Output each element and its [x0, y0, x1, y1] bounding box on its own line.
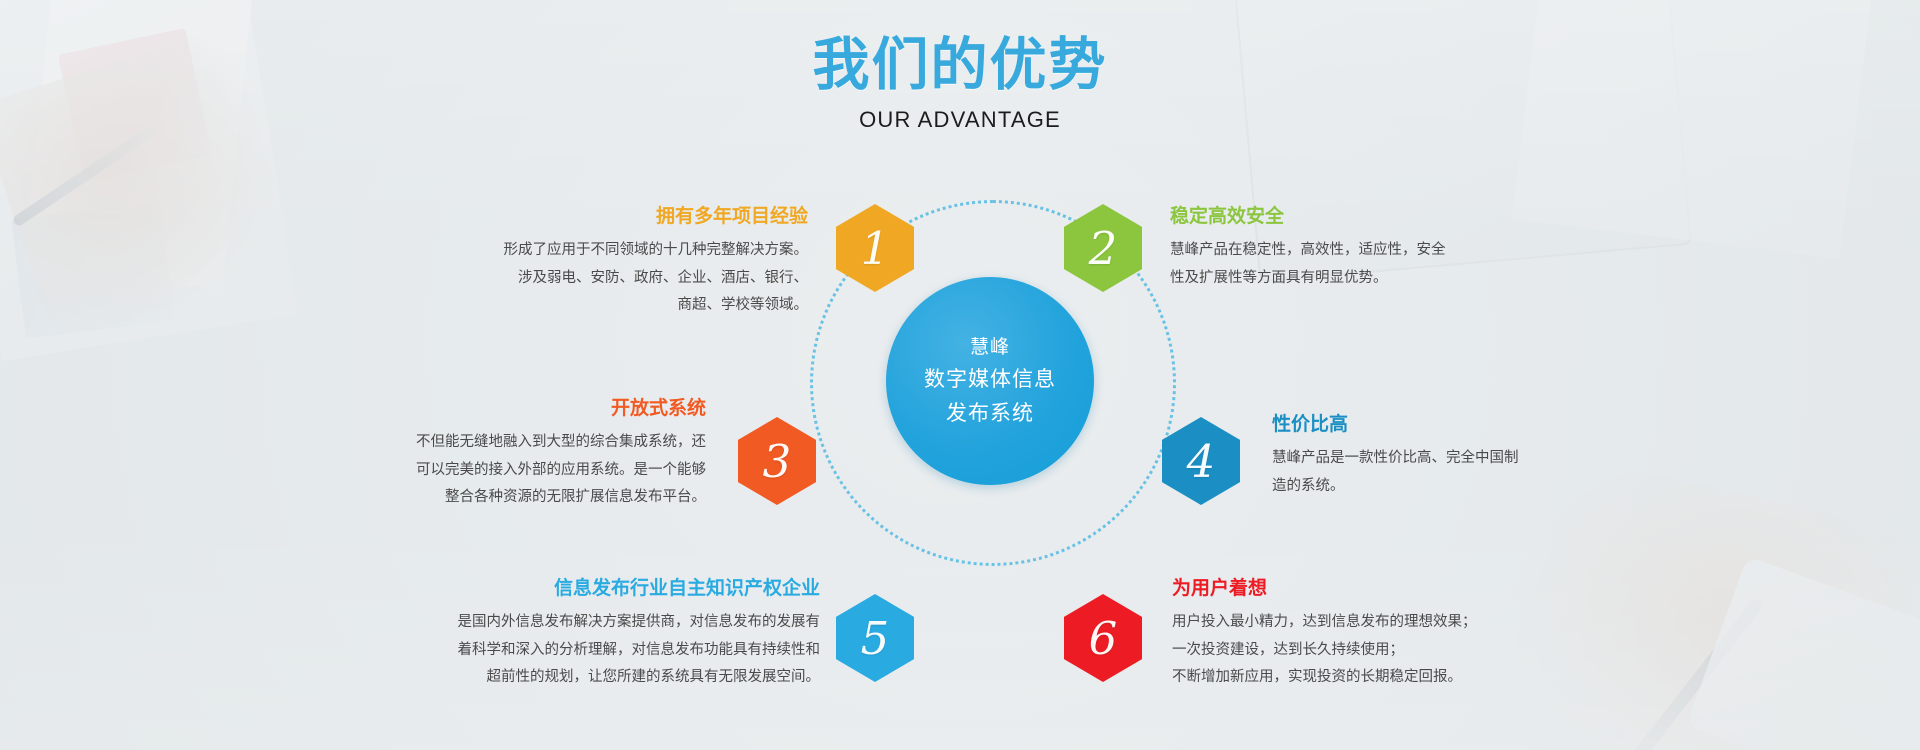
advantage-body-1-line-3: 商超、学校等领域。: [504, 292, 809, 320]
advantage-body-3-line-1: 不但能无缝地融入到大型的综合集成系统，还: [416, 429, 706, 457]
advantage-body-5: 是国内外信息发布解决方案提供商，对信息发布的发展有着科学和深入的分析理解，对信息…: [458, 609, 821, 692]
center-circle: 慧峰 数字媒体信息 发布系统: [886, 277, 1094, 485]
center-line-1: 慧峰: [970, 332, 1010, 363]
advantage-body-5-line-3: 超前性的规划，让您所建的系统具有无限发展空间。: [458, 664, 821, 692]
advantage-body-2-line-1: 慧峰产品在稳定性，高效性，适应性，安全: [1170, 237, 1446, 265]
advantage-body-4-line-2: 造的系统。: [1272, 473, 1519, 501]
advantage-title-5: 信息发布行业自主知识产权企业: [458, 577, 821, 600]
advantage-title-4: 性价比高: [1272, 413, 1519, 436]
advantage-body-6: 用户投入最小精力，达到信息发布的理想效果；一次投资建设，达到长久持续使用；不断增…: [1172, 609, 1477, 692]
advantage-title-6: 为用户着想: [1172, 577, 1477, 600]
advantage-body-1: 形成了应用于不同领域的十几种完整解决方案。涉及弱电、安防、政府、企业、酒店、银行…: [504, 237, 809, 320]
hexagon-number-2: 2: [1089, 226, 1118, 271]
page-title-cn: 我们的优势: [0, 36, 1920, 96]
page-header: 我们的优势 OUR ADVANTAGE: [0, 36, 1920, 133]
advantage-item-6[interactable]: 为用户着想 用户投入最小精力，达到信息发布的理想效果；一次投资建设，达到长久持续…: [1172, 577, 1477, 692]
advantage-item-3[interactable]: 开放式系统 不但能无缝地融入到大型的综合集成系统，还可以完美的接入外部的应用系统…: [416, 397, 706, 512]
advantage-body-6-line-3: 不断增加新应用，实现投资的长期稳定回报。: [1172, 664, 1477, 692]
hexagon-badge-4[interactable]: 4: [1162, 417, 1240, 505]
hexagon-badge-6[interactable]: 6: [1064, 594, 1142, 682]
hexagon-number-5: 5: [861, 616, 890, 661]
advantage-body-3-line-2: 可以完美的接入外部的应用系统。是一个能够: [416, 457, 706, 485]
advantage-title-1: 拥有多年项目经验: [504, 205, 809, 228]
center-line-2: 数字媒体信息: [924, 362, 1056, 396]
advantage-body-1-line-2: 涉及弱电、安防、政府、企业、酒店、银行、: [504, 265, 809, 293]
hexagon-number-1: 1: [861, 226, 890, 271]
advantage-title-3: 开放式系统: [416, 397, 706, 420]
page-title-en: OUR ADVANTAGE: [0, 107, 1920, 133]
advantage-body-4-line-1: 慧峰产品是一款性价比高、完全中国制: [1272, 445, 1519, 473]
hexagon-badge-3[interactable]: 3: [738, 417, 816, 505]
hexagon-number-6: 6: [1089, 616, 1118, 661]
advantage-body-5-line-1: 是国内外信息发布解决方案提供商，对信息发布的发展有: [458, 609, 821, 637]
advantage-title-2: 稳定高效安全: [1170, 205, 1446, 228]
hexagon-badge-5[interactable]: 5: [836, 594, 914, 682]
advantage-body-1-line-1: 形成了应用于不同领域的十几种完整解决方案。: [504, 237, 809, 265]
advantage-body-3-line-3: 整合各种资源的无限扩展信息发布平台。: [416, 484, 706, 512]
advantage-item-5[interactable]: 信息发布行业自主知识产权企业 是国内外信息发布解决方案提供商，对信息发布的发展有…: [458, 577, 821, 692]
advantage-body-6-line-1: 用户投入最小精力，达到信息发布的理想效果；: [1172, 609, 1477, 637]
hexagon-number-3: 3: [763, 439, 792, 484]
center-line-3: 发布系统: [946, 396, 1034, 430]
advantage-body-2: 慧峰产品在稳定性，高效性，适应性，安全性及扩展性等方面具有明显优势。: [1170, 237, 1446, 293]
advantage-body-3: 不但能无缝地融入到大型的综合集成系统，还可以完美的接入外部的应用系统。是一个能够…: [416, 429, 706, 512]
advantage-body-4: 慧峰产品是一款性价比高、完全中国制造的系统。: [1272, 445, 1519, 501]
advantage-item-4[interactable]: 性价比高 慧峰产品是一款性价比高、完全中国制造的系统。: [1272, 413, 1519, 500]
advantage-item-2[interactable]: 稳定高效安全 慧峰产品在稳定性，高效性，适应性，安全性及扩展性等方面具有明显优势…: [1170, 205, 1446, 292]
advantage-body-2-line-2: 性及扩展性等方面具有明显优势。: [1170, 265, 1446, 293]
advantage-item-1[interactable]: 拥有多年项目经验 形成了应用于不同领域的十几种完整解决方案。涉及弱电、安防、政府…: [504, 205, 809, 320]
hexagon-number-4: 4: [1187, 439, 1216, 484]
advantage-body-5-line-2: 着科学和深入的分析理解，对信息发布功能具有持续性和: [458, 637, 821, 665]
advantage-body-6-line-2: 一次投资建设，达到长久持续使用；: [1172, 637, 1477, 665]
